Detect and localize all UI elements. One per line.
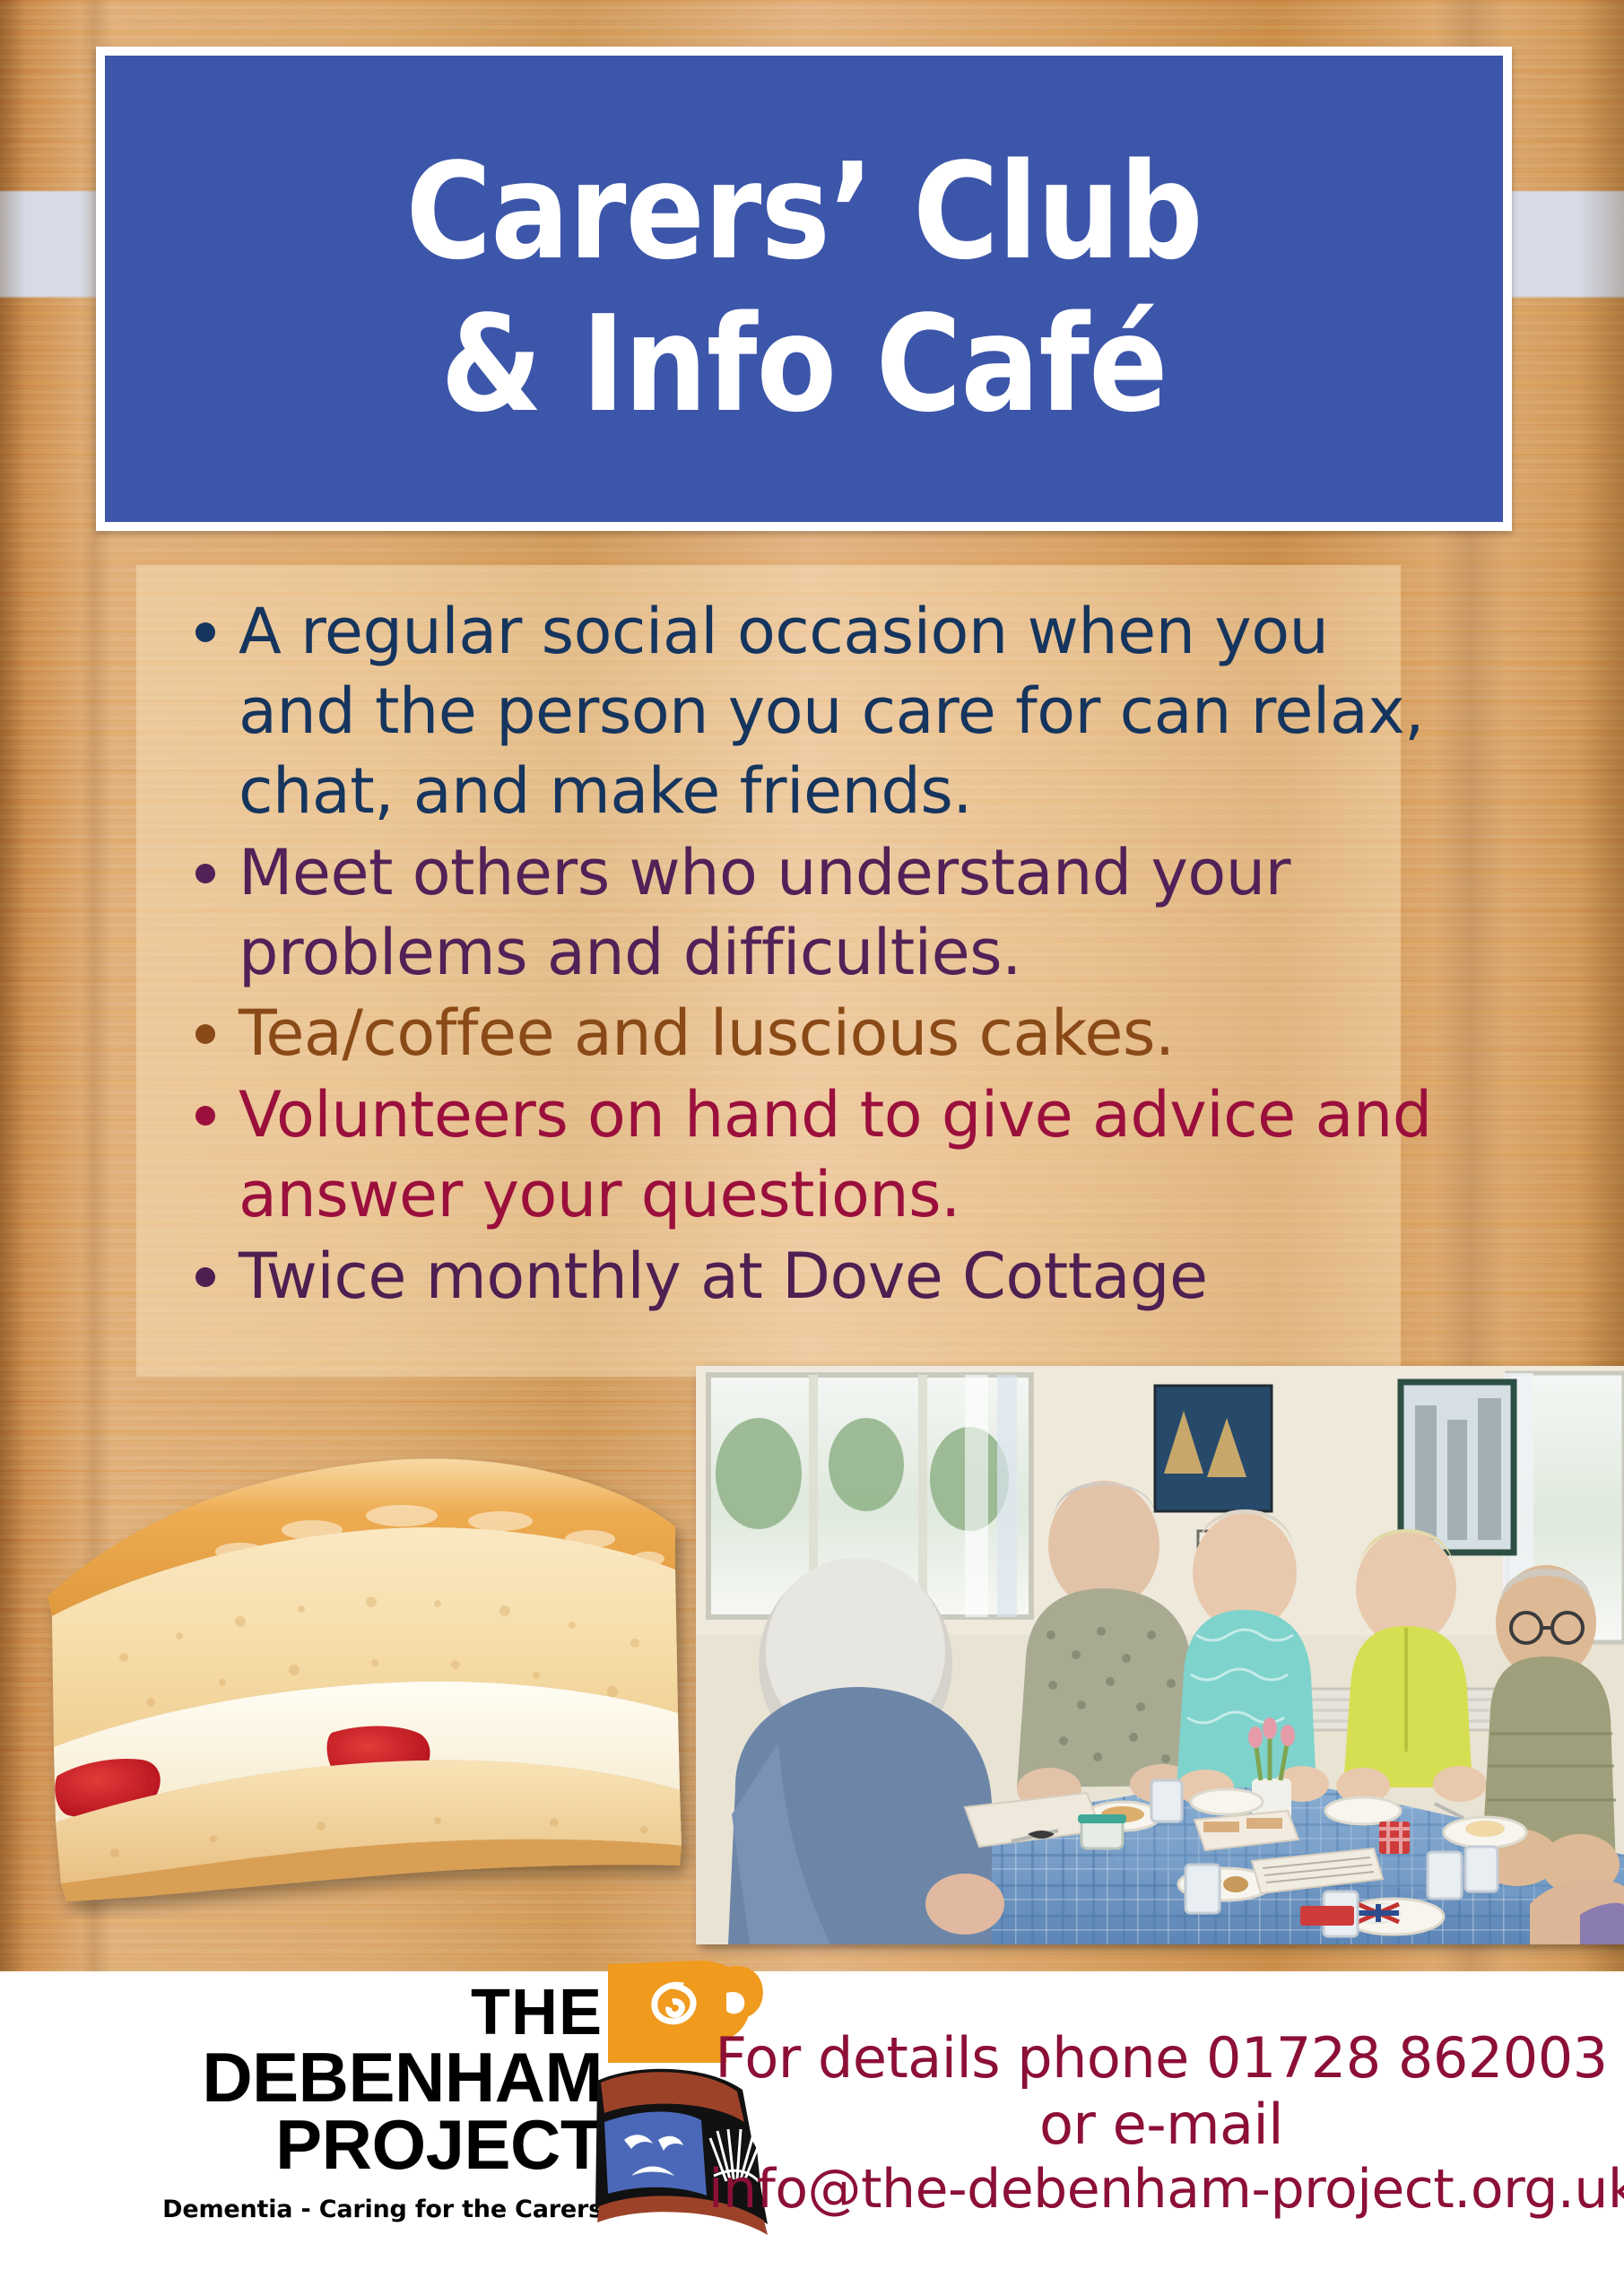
list-item: A regular social occasion when you and t… <box>195 592 1433 831</box>
group-photo <box>696 1366 1624 1944</box>
logo-tagline: Dementia - Caring for the Carers <box>108 2196 603 2223</box>
contact-details: For details phone 01728 862003 or e-mail… <box>708 2025 1614 2222</box>
bullet-dot-icon <box>195 864 215 883</box>
bullet-text-1: A regular social occasion when you and t… <box>239 592 1433 831</box>
bullet-dot-icon <box>195 1267 215 1287</box>
title-banner: Carers’ Club & Info Café <box>96 47 1512 531</box>
logo-wordmark: THE DEBENHAM PROJECT <box>108 1982 603 2179</box>
bullet-dot-icon <box>195 1024 215 1044</box>
list-item: Volunteers on hand to give advice and an… <box>195 1075 1433 1235</box>
contact-email-address[interactable]: info@the-debenham-project.org.uk <box>708 2158 1614 2222</box>
feature-bullet-list: A regular social occasion when you and t… <box>195 592 1433 1318</box>
logo-line-debenham: DEBENHAM <box>108 2044 603 2111</box>
list-item: Twice monthly at Dove Cottage <box>195 1237 1433 1317</box>
bullet-text-3: Tea/coffee and luscious cakes. <box>239 994 1433 1074</box>
title-line-2: & Info Café <box>440 291 1167 439</box>
bullet-dot-icon <box>195 1106 215 1126</box>
poster-canvas: Carers’ Club & Info Café A regular socia… <box>0 0 1624 2296</box>
list-item: Tea/coffee and luscious cakes. <box>195 994 1433 1074</box>
debenham-project-logo: THE DEBENHAM PROJECT Dementia - Caring f… <box>108 1955 753 2251</box>
bullet-text-5: Twice monthly at Dove Cottage <box>239 1237 1433 1317</box>
title-line-1: Carers’ Club <box>405 138 1202 287</box>
cake-image <box>16 1417 698 1919</box>
contact-or-email-line: or e-mail <box>708 2092 1614 2158</box>
list-item: Meet others who understand your problems… <box>195 833 1433 993</box>
logo-line-the: THE <box>108 1982 603 2044</box>
contact-phone-line: For details phone 01728 862003 <box>708 2025 1614 2092</box>
bullet-text-2: Meet others who understand your problems… <box>239 833 1433 993</box>
bullet-dot-icon <box>195 622 215 642</box>
bullet-text-4: Volunteers on hand to give advice and an… <box>239 1075 1433 1235</box>
logo-line-project: PROJECT <box>108 2111 603 2179</box>
